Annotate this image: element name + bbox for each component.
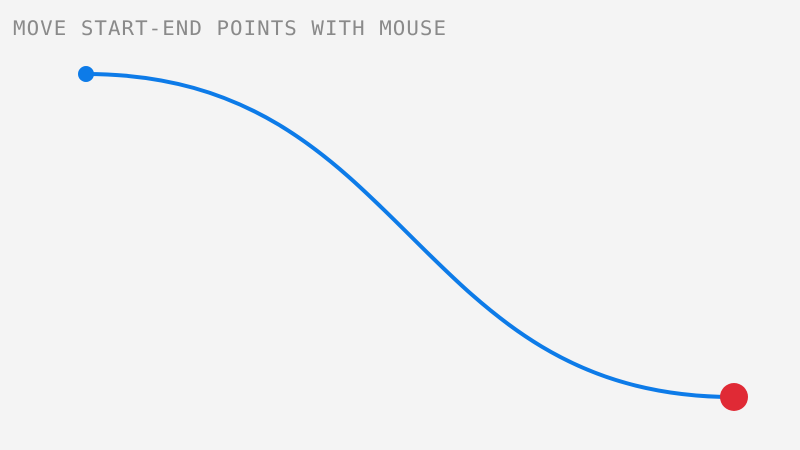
- curve-canvas[interactable]: MOVE START-END POINTS WITH MOUSE: [0, 0, 800, 450]
- end-point-handle[interactable]: [720, 383, 748, 411]
- bezier-curve-path: [86, 74, 734, 397]
- page-title: MOVE START-END POINTS WITH MOUSE: [13, 17, 447, 39]
- start-point-handle[interactable]: [78, 66, 94, 82]
- bezier-curve-svg: [0, 0, 800, 450]
